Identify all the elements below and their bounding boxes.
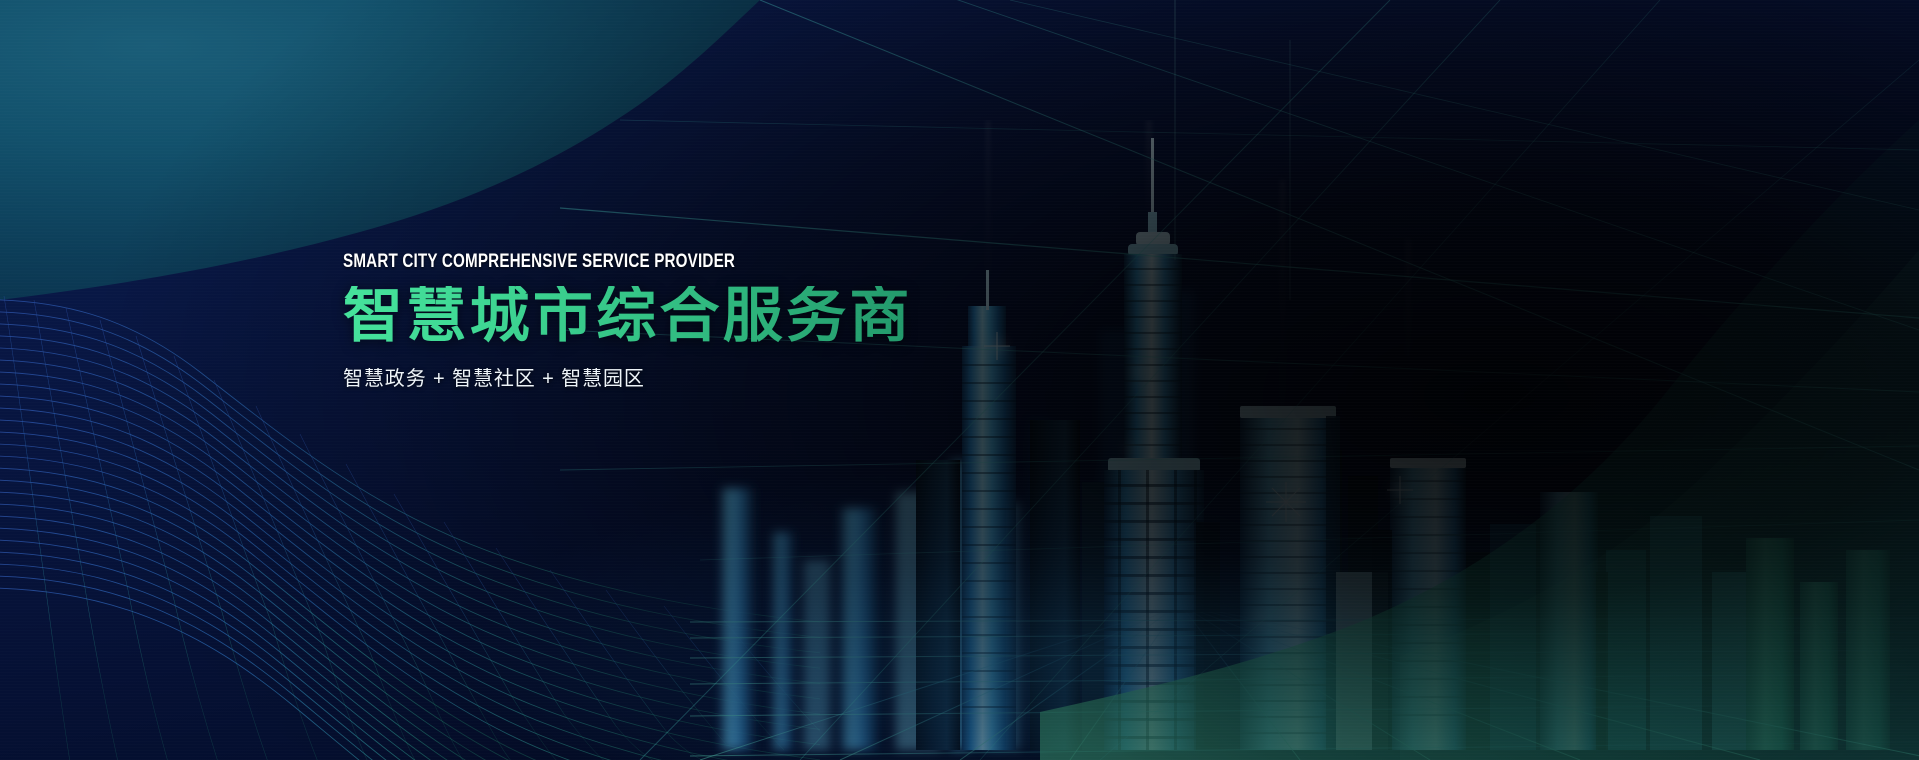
hero-banner: SMART CITY COMPREHENSIVE SERVICE PROVIDE… <box>0 0 1919 760</box>
hero-headline-chinese: 智慧城市综合服务商 <box>343 286 1103 346</box>
hero-tagline-chinese: 智慧政务 + 智慧社区 + 智慧园区 <box>343 362 1103 391</box>
hero-copy-block: SMART CITY COMPREHENSIVE SERVICE PROVIDE… <box>343 252 1103 391</box>
city-skyline-illustration <box>700 120 1919 760</box>
hero-eyebrow-english: SMART CITY COMPREHENSIVE SERVICE PROVIDE… <box>343 252 951 272</box>
